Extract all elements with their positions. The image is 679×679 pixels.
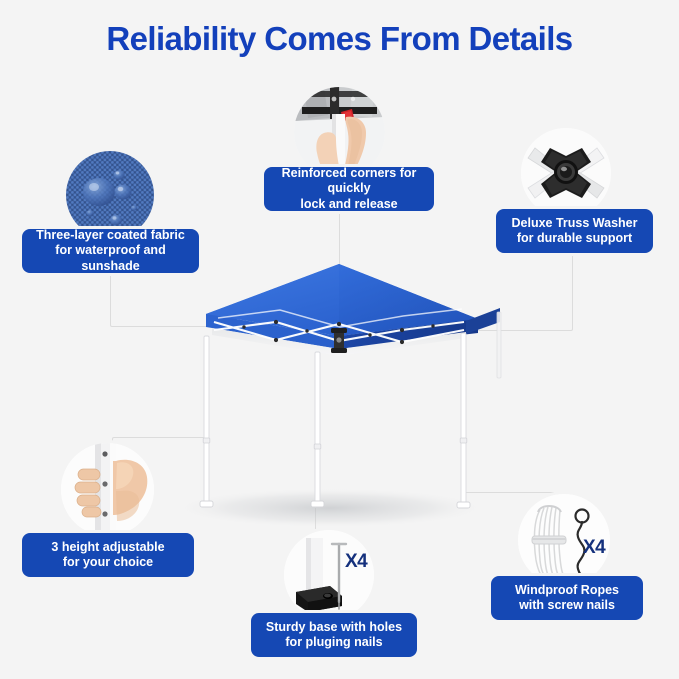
callout-label-three-layer-fabric[interactable]: Three-layer coated fabric for waterproof… — [22, 229, 199, 273]
callout-line1: Three-layer coated fabric — [30, 228, 191, 243]
callout-line1: Sturdy base with holes — [259, 620, 409, 635]
callout-label-windproof-ropes[interactable]: Windproof Ropes with screw nails — [491, 576, 643, 620]
callout-label-truss-washer[interactable]: Deluxe Truss Washer for durable support — [496, 209, 653, 253]
callout-label-height-adjustable[interactable]: 3 height adjustable for your choice — [22, 533, 194, 577]
callout-line1: Reinforced corners for quickly — [272, 166, 426, 197]
callout-line2: for waterproof and sunshade — [30, 243, 191, 274]
callout-line1: 3 height adjustable — [30, 540, 186, 555]
multiplier-badge-sturdy-base: X4 — [345, 551, 367, 573]
hand-on-reinforced-corner-photo — [294, 87, 385, 178]
callout-line2: for pluging nails — [259, 635, 409, 650]
callout-label-sturdy-base[interactable]: Sturdy base with holes for pluging nails — [251, 613, 417, 657]
callout-line2: for your choice — [30, 555, 186, 570]
callout-line2: lock and release — [272, 197, 426, 212]
callout-line1: Windproof Ropes — [499, 583, 635, 598]
infographic-canvas: Reliability Comes From Details — [0, 0, 679, 679]
hand-on-adjustable-leg-photo — [61, 443, 154, 536]
callout-label-reinforced-corners[interactable]: Reinforced corners for quickly lock and … — [264, 167, 434, 211]
coated-fabric-water-beads-photo — [66, 151, 154, 239]
truss-washer-photo — [521, 128, 611, 218]
multiplier-badge-windproof-ropes: X4 — [583, 537, 605, 559]
callout-line2: for durable support — [504, 231, 645, 246]
callout-line1: Deluxe Truss Washer — [504, 216, 645, 231]
callout-line2: with screw nails — [499, 598, 635, 613]
base-foot-with-nail-photo — [284, 530, 374, 620]
